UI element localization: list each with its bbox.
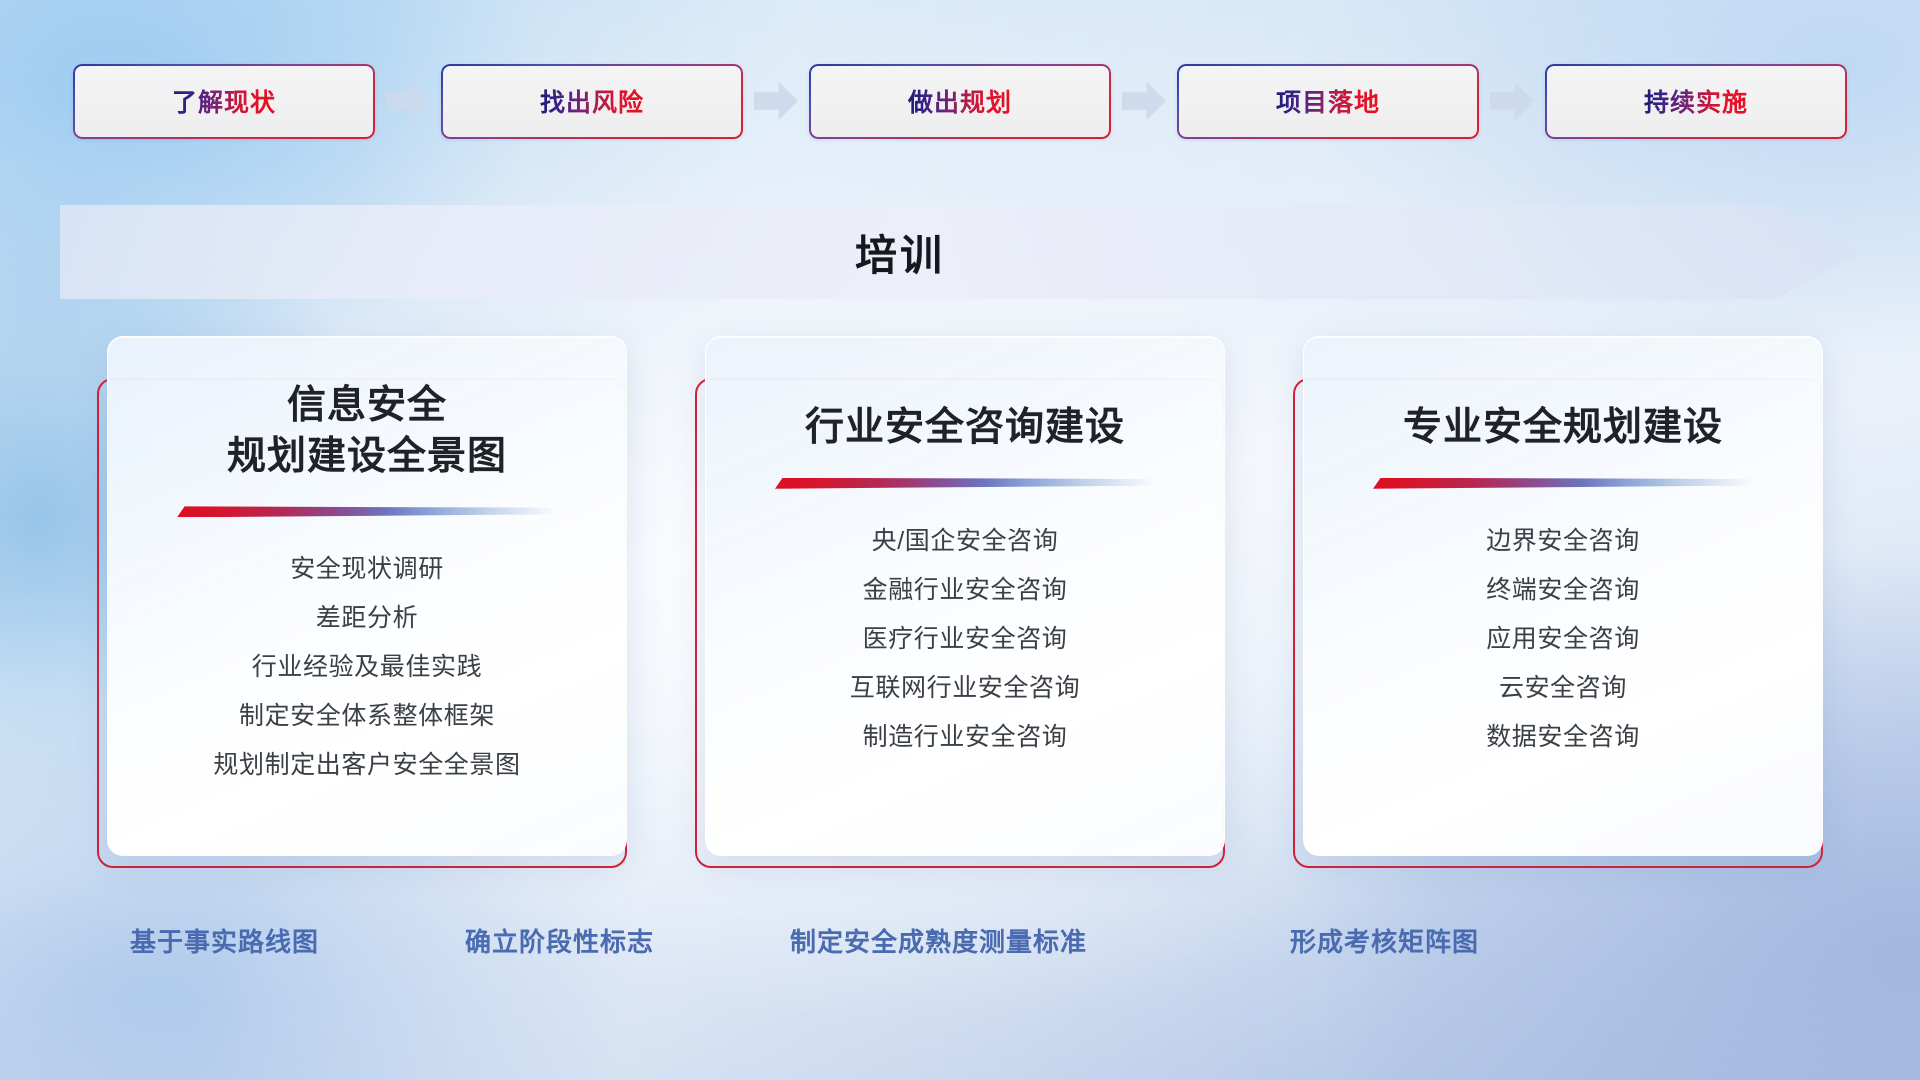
footer-label-row: 基于事实路线图 确立阶段性标志 制定安全成熟度测量标准 形成考核矩阵图 <box>0 910 1920 970</box>
card-row: 信息安全 规划建设全景图 安全现状调研 差距分析 行业经验及最佳实践 制定安全体… <box>0 336 1920 868</box>
step-chip-2[interactable]: 找出风险 <box>441 64 743 139</box>
training-band-title: 培训 <box>60 205 1740 299</box>
list-item: 数据安全咨询 <box>1486 713 1640 762</box>
step-chip-4[interactable]: 项目落地 <box>1177 64 1479 139</box>
card-3[interactable]: 专业安全规划建设 边界安全咨询 终端安全咨询 应用安全咨询 云安全咨询 数据安全… <box>1303 336 1823 856</box>
list-item: 医疗行业安全咨询 <box>863 615 1068 664</box>
process-step-flow: 了解现状 找出风险 做出规划 项目落地 持续实施 <box>0 62 1920 140</box>
card-wrapper-2: 行业安全咨询建设 央/国企安全咨询 金融行业安全咨询 医疗行业安全咨询 互联网行… <box>695 336 1225 868</box>
list-item: 差距分析 <box>316 594 418 643</box>
training-band: 培训 <box>60 205 1860 299</box>
list-item: 制造行业安全咨询 <box>863 713 1068 762</box>
card-title-line1: 信息安全 <box>227 381 507 432</box>
card-list-3: 边界安全咨询 终端安全咨询 应用安全咨询 云安全咨询 数据安全咨询 <box>1486 517 1640 762</box>
list-item: 制定安全体系整体框架 <box>239 692 495 741</box>
card-wrapper-1: 信息安全 规划建设全景图 安全现状调研 差距分析 行业经验及最佳实践 制定安全体… <box>97 336 627 868</box>
list-item: 规划制定出客户安全全景图 <box>213 741 520 790</box>
list-item: 金融行业安全咨询 <box>863 566 1068 615</box>
card-title-line1: 专业安全规划建设 <box>1403 403 1723 454</box>
footer-label-1: 基于事实路线图 <box>130 910 319 970</box>
step-label-1: 了解现状 <box>172 83 276 119</box>
step-label-4: 项目落地 <box>1276 83 1380 119</box>
card-divider-1 <box>177 506 557 517</box>
arrow-right-icon <box>754 81 798 121</box>
step-chip-5[interactable]: 持续实施 <box>1545 64 1847 139</box>
list-item: 安全现状调研 <box>290 545 444 594</box>
arrow-right-icon <box>386 81 430 121</box>
card-title-line2: 规划建设全景图 <box>227 432 507 483</box>
footer-label-2: 确立阶段性标志 <box>465 910 654 970</box>
card-title-2: 行业安全咨询建设 <box>805 403 1125 454</box>
card-wrapper-3: 专业安全规划建设 边界安全咨询 终端安全咨询 应用安全咨询 云安全咨询 数据安全… <box>1293 336 1823 868</box>
step-label-3: 做出规划 <box>908 83 1012 119</box>
list-item: 行业经验及最佳实践 <box>252 643 482 692</box>
list-item: 终端安全咨询 <box>1486 566 1640 615</box>
card-2[interactable]: 行业安全咨询建设 央/国企安全咨询 金融行业安全咨询 医疗行业安全咨询 互联网行… <box>705 336 1225 856</box>
card-1[interactable]: 信息安全 规划建设全景图 安全现状调研 差距分析 行业经验及最佳实践 制定安全体… <box>107 336 627 856</box>
arrow-right-icon <box>1490 81 1534 121</box>
card-list-2: 央/国企安全咨询 金融行业安全咨询 医疗行业安全咨询 互联网行业安全咨询 制造行… <box>850 517 1080 762</box>
card-title-line1: 行业安全咨询建设 <box>805 403 1125 454</box>
list-item: 互联网行业安全咨询 <box>850 664 1080 713</box>
arrow-right-icon <box>1122 81 1166 121</box>
card-title-1: 信息安全 规划建设全景图 <box>227 381 507 482</box>
footer-label-3: 制定安全成熟度测量标准 <box>790 910 1087 970</box>
list-item: 应用安全咨询 <box>1486 615 1640 664</box>
step-chip-3[interactable]: 做出规划 <box>809 64 1111 139</box>
list-item: 央/国企安全咨询 <box>872 517 1059 566</box>
card-title-3: 专业安全规划建设 <box>1403 403 1723 454</box>
card-divider-2 <box>775 478 1155 489</box>
footer-label-4: 形成考核矩阵图 <box>1290 910 1479 970</box>
list-item: 边界安全咨询 <box>1486 517 1640 566</box>
card-list-1: 安全现状调研 差距分析 行业经验及最佳实践 制定安全体系整体框架 规划制定出客户… <box>213 545 520 790</box>
list-item: 云安全咨询 <box>1499 664 1627 713</box>
step-label-5: 持续实施 <box>1644 83 1748 119</box>
step-chip-1[interactable]: 了解现状 <box>73 64 375 139</box>
card-divider-3 <box>1373 478 1753 489</box>
step-label-2: 找出风险 <box>540 83 644 119</box>
